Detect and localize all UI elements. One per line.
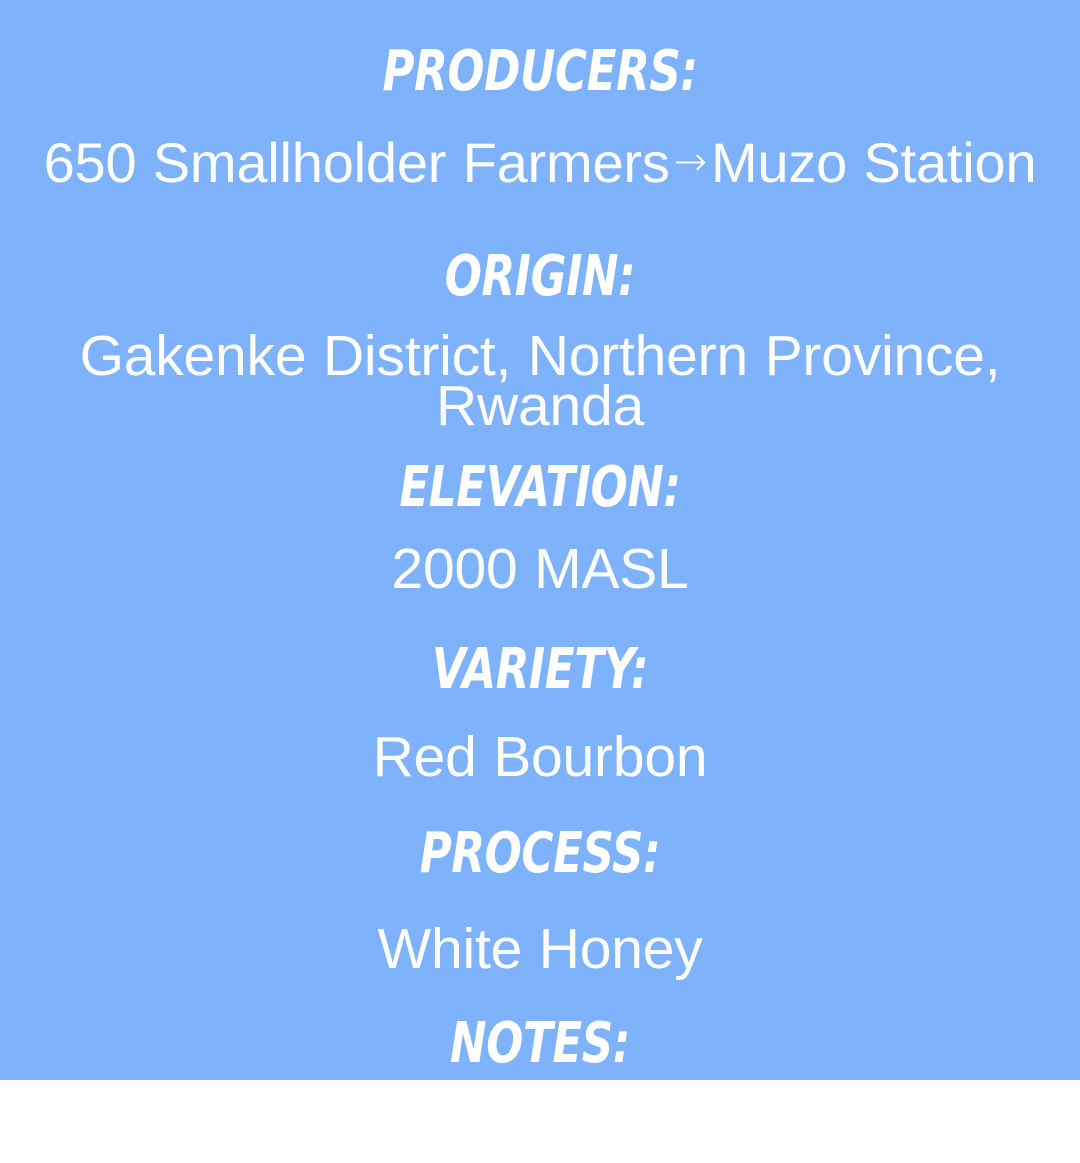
spec-label-notes: NOTES: [119,1016,961,1072]
spec-value-process: White Honey [35,924,1045,974]
spec-block-producers: PRODUCERS: 650 Smallholder Farmers→Muzo … [0,44,1080,187]
spec-value-origin: Gakenke District, Northern Province, Rwa… [35,331,1045,431]
spec-label-variety: VARIETY: [119,642,961,698]
spec-block-process: PROCESS: White Honey [0,826,1080,974]
spec-value-elevation: 2000 MASL [35,544,1045,594]
spec-block-origin: ORIGIN: Gakenke District, Northern Provi… [0,249,1080,431]
spec-value-notes: Sweet Tea, Granny Smith, Florals, Brisk [35,1106,1045,1156]
spec-block-variety: VARIETY: Red Bourbon [0,642,1080,782]
spec-block-notes: NOTES: Sweet Tea, Granny Smith, Florals,… [0,1016,1080,1156]
spec-label-process: PROCESS: [119,826,961,882]
spec-label-elevation: ELEVATION: [119,460,961,516]
spec-label-producers: PRODUCERS: [119,44,961,100]
spec-value-variety: Red Bourbon [35,732,1045,782]
spec-label-origin: ORIGIN: [119,249,961,305]
producers-station-text: Muzo Station [711,131,1036,194]
right-arrow-icon: → [670,139,711,185]
spec-value-producers: 650 Smallholder Farmers→Muzo Station [35,138,1045,187]
producers-count-text: 650 Smallholder Farmers [44,131,670,194]
coffee-spec-card: PRODUCERS: 650 Smallholder Farmers→Muzo … [0,0,1080,1080]
spec-block-elevation: ELEVATION: 2000 MASL [0,460,1080,594]
